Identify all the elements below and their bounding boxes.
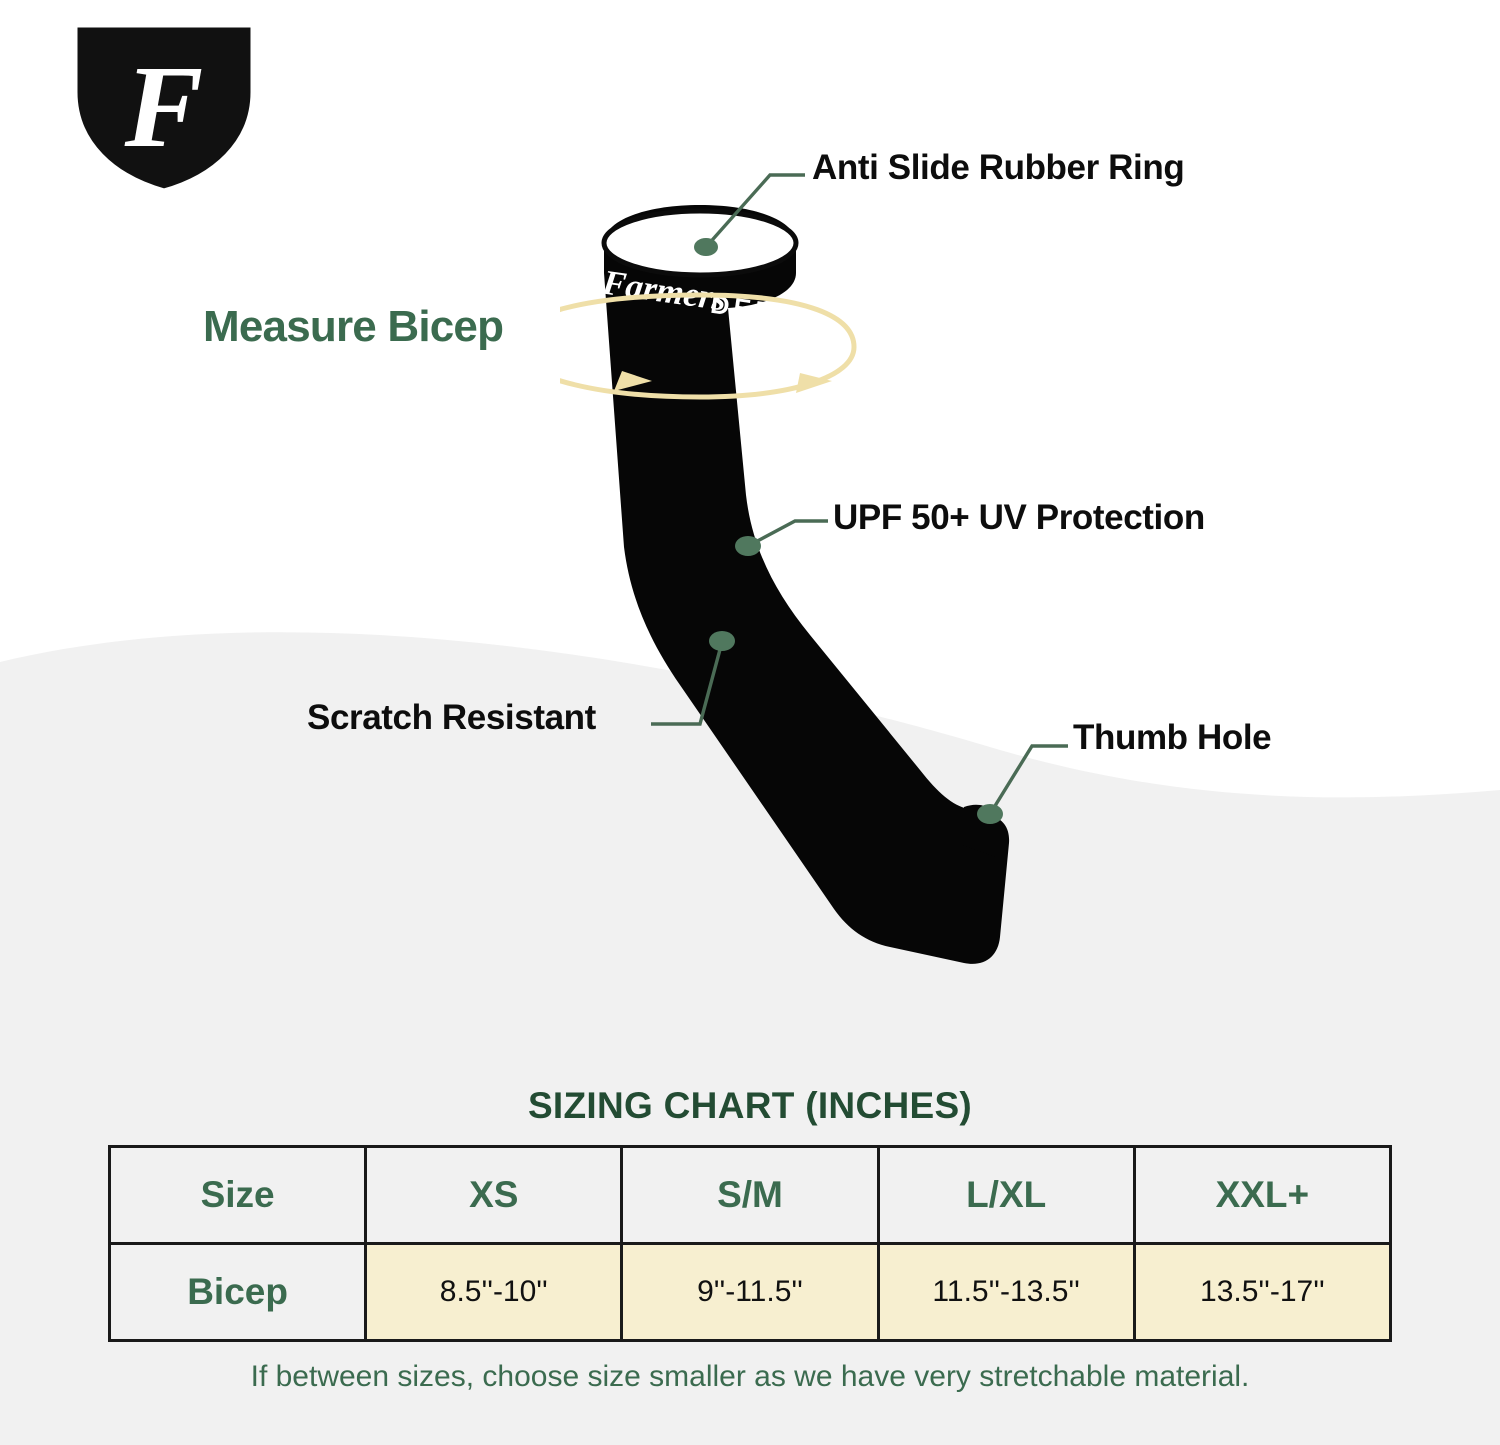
cell-bicep-xs: 8.5''-10'' [366,1244,622,1341]
callout-thumb-hole: Thumb Hole [1073,718,1271,758]
column-header-sm: S/M [622,1147,878,1244]
logo-letter: F [124,41,204,172]
cell-bicep-sm: 9''-11.5'' [622,1244,878,1341]
callout-anti-slide-rubber-ring: Anti Slide Rubber Ring [812,148,1184,188]
dot-anti-slide [694,238,718,256]
column-header-xs: XS [366,1147,622,1244]
column-header-size: Size [110,1147,366,1244]
dot-thumb [977,804,1003,824]
product-infographic: F Farmers DEFENSE [0,0,1500,1445]
table-row: Bicep 8.5''-10'' 9''-11.5'' 11.5''-13.5'… [110,1244,1391,1341]
sizing-chart-table: Size XS S/M L/XL XXL+ Bicep 8.5''-10'' 9… [108,1145,1392,1342]
cell-bicep-xxl: 13.5''-17'' [1134,1244,1390,1341]
dot-scratch [709,631,735,651]
cell-bicep-lxl: 11.5''-13.5'' [878,1244,1134,1341]
table-header-row: Size XS S/M L/XL XXL+ [110,1147,1391,1244]
sizing-note: If between sizes, choose size smaller as… [0,1360,1500,1394]
dot-upf [735,536,761,556]
column-header-lxl: L/XL [878,1147,1134,1244]
callout-measure-bicep: Measure Bicep [203,302,503,352]
callout-upf-uv-protection: UPF 50+ UV Protection [833,498,1205,538]
column-header-xxl: XXL+ [1134,1147,1390,1244]
shield-logo-icon: F [64,18,264,198]
row-header-bicep: Bicep [110,1244,366,1341]
sizing-chart-title: SIZING CHART (INCHES) [0,1085,1500,1127]
callout-scratch-resistant: Scratch Resistant [307,698,596,738]
